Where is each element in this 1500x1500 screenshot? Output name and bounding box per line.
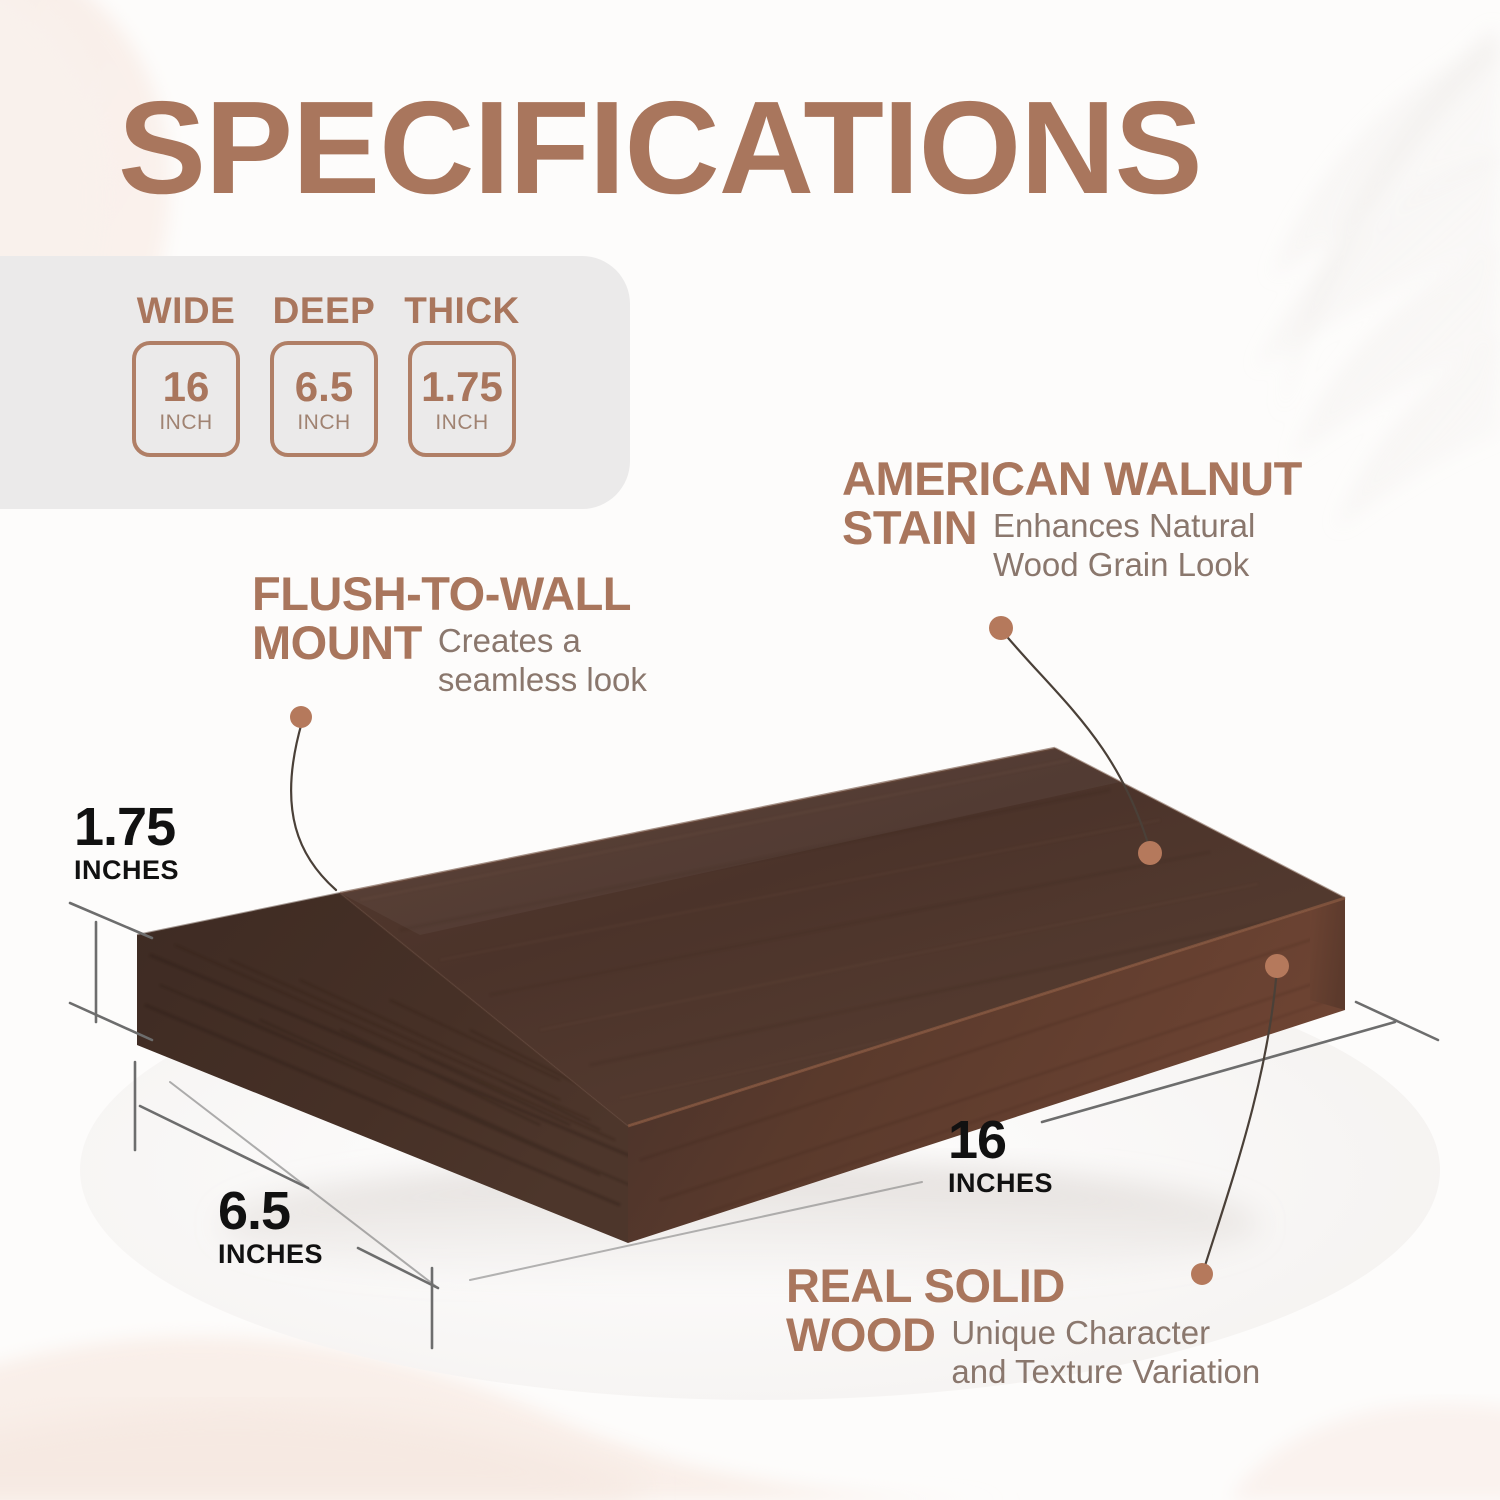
callout-flush-title-line2: MOUNT (252, 619, 422, 668)
callout-dot-flush (290, 706, 312, 728)
callout-american-walnut-stain: AMERICAN WALNUT STAIN Enhances Natural W… (842, 455, 1482, 585)
spec-box-wide: 16 INCH (132, 341, 240, 457)
dimension-number-width: 16 (948, 1113, 1053, 1167)
spec-value-thick: 1.75 (421, 366, 503, 408)
spec-label-deep: DEEP (273, 292, 376, 329)
spec-value-deep: 6.5 (295, 366, 353, 408)
callout-dot-stain (989, 616, 1013, 640)
callout-dot-wood-target (1265, 954, 1289, 978)
spec-box-thick: 1.75 INCH (408, 341, 516, 457)
callout-flush-title-line1: FLUSH-TO-WALL (252, 567, 631, 620)
spec-label-wide: WIDE (137, 292, 236, 329)
spec-badge-thick: THICK 1.75 INCH (406, 292, 518, 457)
dimension-line-thickness (70, 903, 152, 1040)
dimension-unit-depth: INCHES (218, 1241, 323, 1268)
dimension-number-thickness: 1.75 (74, 800, 179, 854)
dimension-unit-thickness: INCHES (74, 857, 179, 884)
spec-box-deep: 6.5 INCH (270, 341, 378, 457)
dimension-unit-width: INCHES (948, 1170, 1053, 1197)
callout-wood-title-line1: REAL SOLID (786, 1259, 1065, 1312)
spec-unit-deep: INCH (297, 412, 350, 433)
infographic-canvas: SPECIFICATIONS WIDE 16 INCH DEEP 6.5 INC… (0, 0, 1500, 1500)
page-title: SPECIFICATIONS (118, 82, 1202, 214)
spec-label-thick: THICK (404, 292, 520, 329)
callout-leader-lines (291, 632, 1277, 1272)
callout-stain-title-line2: STAIN (842, 504, 977, 553)
callout-real-solid-wood: REAL SOLID WOOD Unique Character and Tex… (786, 1262, 1426, 1392)
callout-flush-sub-line2: seamless look (438, 661, 647, 698)
spec-summary-panel: WIDE 16 INCH DEEP 6.5 INCH THICK 1.75 IN… (0, 256, 630, 509)
callout-stain-title-line1: AMERICAN WALNUT (842, 452, 1302, 505)
spec-badge-wide: WIDE 16 INCH (130, 292, 242, 457)
spec-unit-wide: INCH (159, 412, 212, 433)
dimension-label-width: 16 INCHES (948, 1113, 1053, 1197)
callout-dot-stain-target (1138, 841, 1162, 865)
callout-wood-sub-line2: and Texture Variation (951, 1353, 1260, 1390)
callout-wood-title-line2: WOOD (786, 1311, 935, 1360)
callout-stain-sub-line1: Enhances Natural (993, 507, 1255, 544)
callout-flush-to-wall-mount: FLUSH-TO-WALL MOUNT Creates a seamless l… (252, 570, 792, 700)
callout-stain-sub-line2: Wood Grain Look (993, 546, 1249, 583)
callout-flush-sub-line1: Creates a (438, 622, 581, 659)
dimension-number-depth: 6.5 (218, 1184, 323, 1238)
callout-wood-sub-line1: Unique Character (951, 1314, 1210, 1351)
callout-dots (290, 616, 1289, 1285)
dimension-label-depth: 6.5 INCHES (218, 1184, 323, 1268)
spec-unit-thick: INCH (435, 412, 488, 433)
dimension-label-thickness: 1.75 INCHES (74, 800, 179, 884)
spec-badge-row: WIDE 16 INCH DEEP 6.5 INCH THICK 1.75 IN… (130, 292, 518, 457)
spec-value-wide: 16 (163, 366, 210, 408)
spec-badge-deep: DEEP 6.5 INCH (268, 292, 380, 457)
